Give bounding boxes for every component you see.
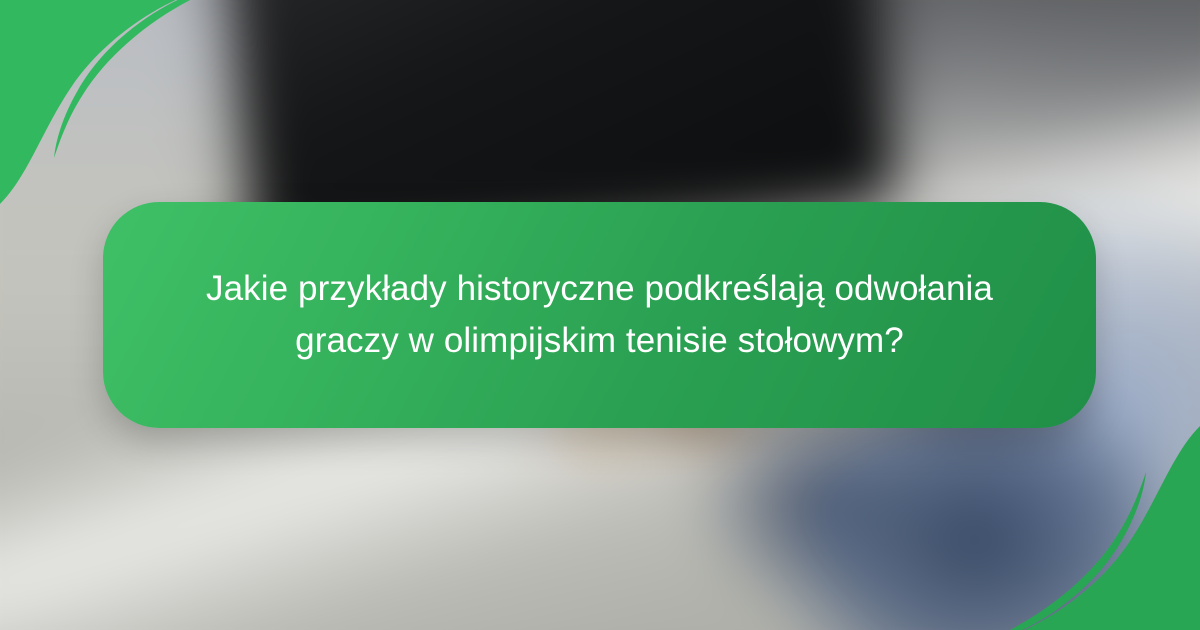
question-text: Jakie przykłady historyczne podkreślają …: [195, 263, 1005, 367]
og-image-canvas: Jakie przykłady historyczne podkreślają …: [0, 0, 1200, 630]
question-card: Jakie przykłady historyczne podkreślają …: [103, 202, 1096, 428]
